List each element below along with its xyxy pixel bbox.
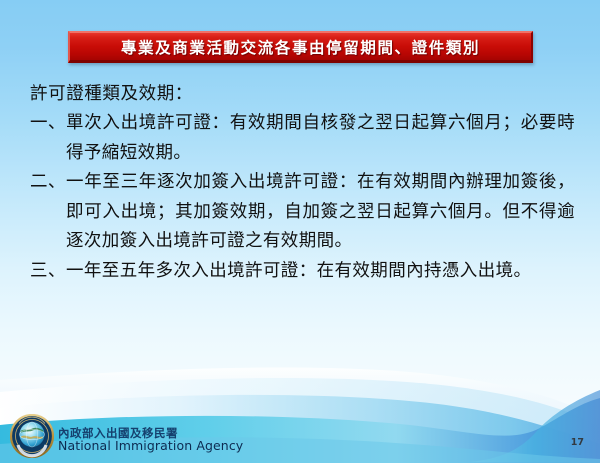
list-item-text: 單次入出境許可證：有效期間自核發之翌日起算六個月；必要時得予縮短效期。 [66,109,575,168]
intro-line: 許可證種類及效期： [30,80,575,109]
agency-name-en: National Immigration Agency [58,439,243,452]
list-item-text: 一年至三年逐次加簽入出境許可證：在有效期間內辦理加簽後，即可入出境；其加簽效期，… [66,168,575,257]
list-item-marker: 一、 [30,109,66,139]
slide-title-banner: 專業及商業活動交流各事由停留期間、證件類別 [68,31,533,63]
list-item: 一、 單次入出境許可證：有效期間自核發之翌日起算六個月；必要時得予縮短效期。 [30,109,575,168]
page-title: 專業及商業活動交流各事由停留期間、證件類別 [121,36,480,58]
page-number: 17 [571,437,584,448]
slide-body: 許可證種類及效期： 一、 單次入出境許可證：有效期間自核發之翌日起算六個月；必要… [30,80,575,286]
list-item: 二、 一年至三年逐次加簽入出境許可證：在有效期間內辦理加簽後，即可入出境；其加簽… [30,168,575,257]
list-item-marker: 三、 [30,257,66,287]
list-item-text: 一年至五年多次入出境許可證：在有效期間內持憑入出境。 [66,257,575,287]
nia-globe-emblem-icon [10,414,54,458]
slide-canvas: 專業及商業活動交流各事由停留期間、證件類別 許可證種類及效期： 一、 單次入出境… [0,0,600,463]
list-item-marker: 二、 [30,168,66,198]
wave-right-curl [470,390,600,463]
list-item: 三、 一年至五年多次入出境許可證：在有效期間內持憑入出境。 [30,257,575,287]
agency-identity: 內政部入出國及移民署 National Immigration Agency [58,427,243,452]
